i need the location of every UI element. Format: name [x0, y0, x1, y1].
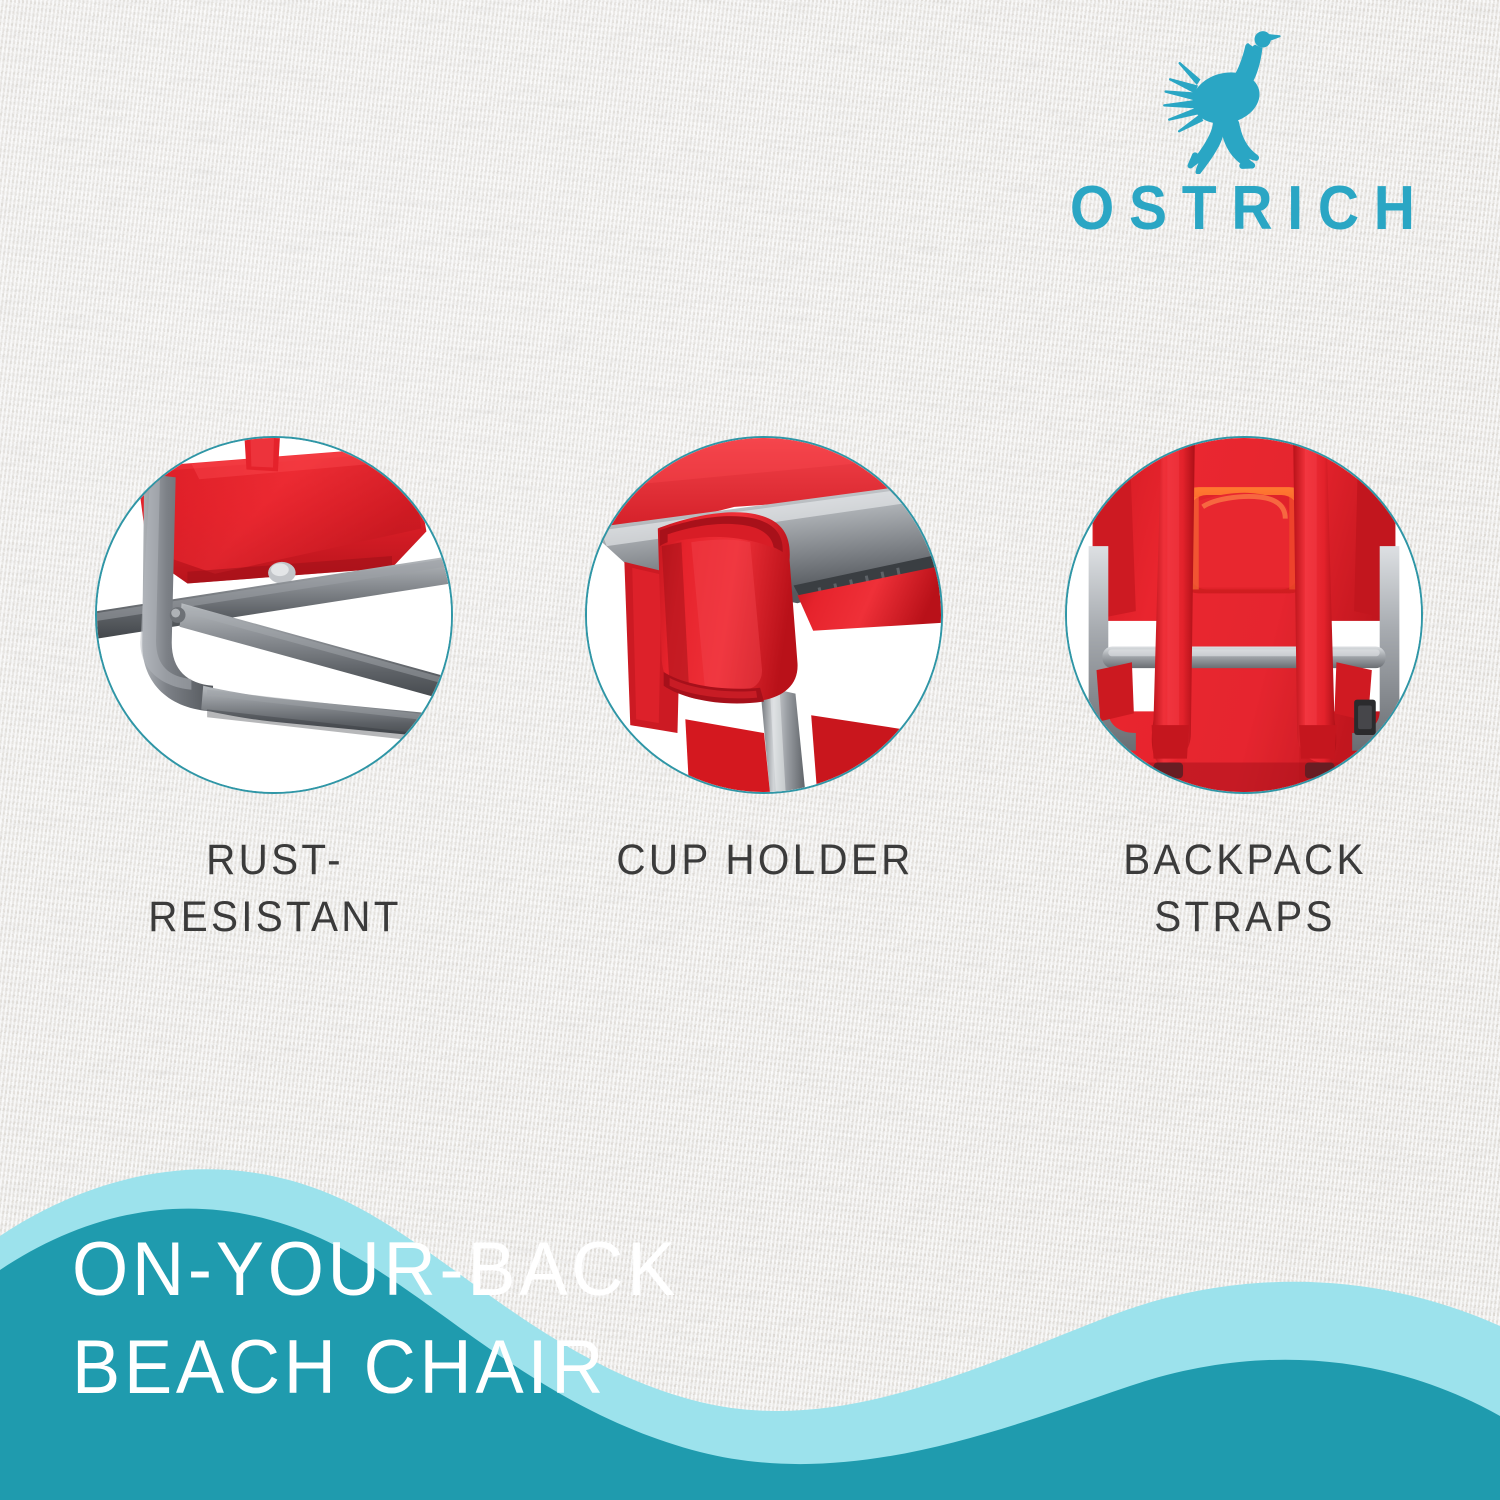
feature-image-rust-resistant — [95, 436, 453, 794]
footer-title: ON-YOUR-BACK BEACH CHAIR — [72, 1221, 679, 1416]
ostrich-bird-icon — [1155, 22, 1305, 174]
backpack-straps-photo — [1067, 438, 1421, 792]
feature-label-backpack-straps: BACKPACK STRAPS — [1076, 832, 1414, 946]
feature-label-rust-resistant: RUST- RESISTANT — [106, 832, 444, 946]
feature-image-backpack-straps — [1065, 436, 1423, 794]
feature-image-cup-holder — [585, 436, 943, 794]
product-infographic: OSTRICH — [0, 0, 1500, 1500]
wave-footer: ON-YOUR-BACK BEACH CHAIR — [0, 1140, 1500, 1500]
feature-rust-resistant: RUST- RESISTANT — [95, 436, 455, 946]
feature-backpack-straps: BACKPACK STRAPS — [1065, 436, 1425, 946]
feature-cup-holder: CUP HOLDER — [585, 436, 945, 889]
feature-label-cup-holder: CUP HOLDER — [596, 832, 934, 889]
cup-holder-photo — [587, 438, 941, 792]
brand-wordmark: OSTRICH — [1055, 178, 1405, 240]
chair-frame-photo — [97, 438, 451, 792]
brand-logo: OSTRICH — [1040, 22, 1420, 240]
feature-list: RUST- RESISTANT — [0, 436, 1500, 956]
